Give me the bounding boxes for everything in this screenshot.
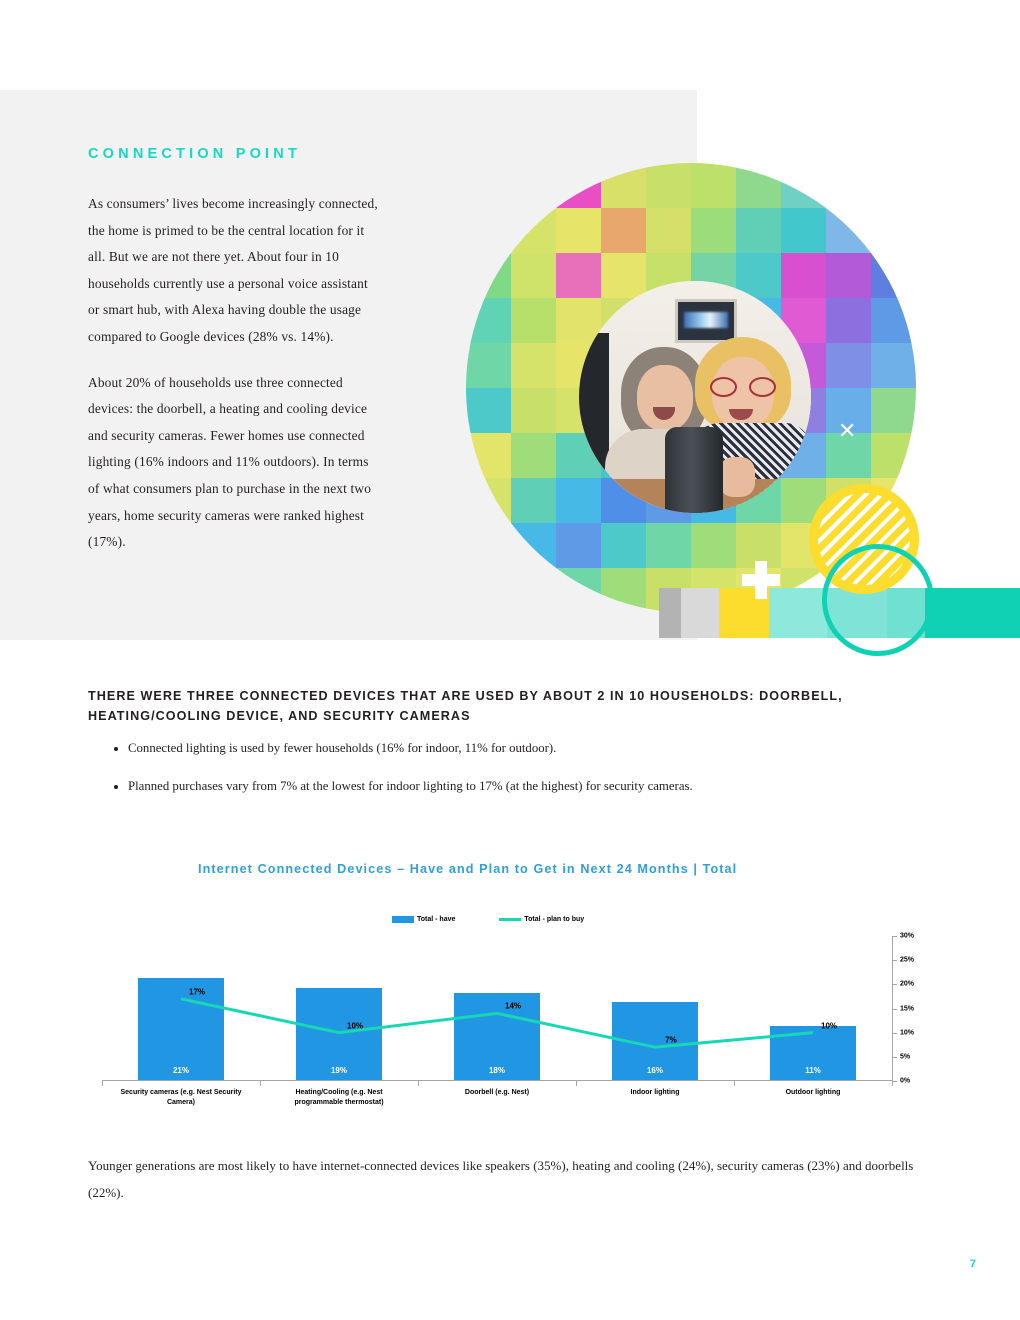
chart-y-tick-label: 0%	[900, 1078, 910, 1085]
mosaic-tile	[511, 568, 556, 613]
plus-icon	[742, 561, 780, 599]
mosaic-tile	[556, 568, 601, 613]
color-block	[659, 588, 681, 638]
chart-x-category-labels: Security cameras (e.g. Nest Security Cam…	[102, 1088, 892, 1122]
section-heading: THERE WERE THREE CONNECTED DEVICES THAT …	[88, 686, 888, 726]
chart-y-tick	[893, 1009, 897, 1010]
legend-label-have: Total - have	[417, 916, 455, 923]
chart-line-value-label: 7%	[665, 1036, 677, 1045]
chart-x-category-label: Security cameras (e.g. Nest Security Cam…	[116, 1088, 246, 1107]
mosaic-tile	[511, 433, 556, 478]
chart-container: Internet Connected Devices – Have and Pl…	[88, 858, 938, 1128]
mosaic-tile	[871, 298, 916, 343]
mosaic-tile	[781, 163, 826, 208]
mosaic-tile	[556, 523, 601, 568]
mosaic-tile	[691, 523, 736, 568]
chart-plot-area: 21%19%18%16%11%17%10%14%7%10%	[102, 936, 892, 1081]
mosaic-tile	[511, 343, 556, 388]
chart-x-category-label: Outdoor lighting	[748, 1088, 878, 1098]
list-item: Planned purchases vary from 7% at the lo…	[128, 776, 730, 797]
chart-x-tick	[576, 1081, 577, 1086]
legend-item-have: Total - have	[392, 916, 455, 923]
chart-x-tick	[102, 1081, 103, 1086]
hero-paragraph-2: About 20% of households use three connec…	[88, 370, 380, 556]
mosaic-tile	[601, 163, 646, 208]
mosaic-tile	[871, 163, 916, 208]
section-bullets: Connected lighting is used by fewer hous…	[110, 738, 730, 814]
mosaic-tile	[466, 433, 511, 478]
chart-x-tick	[260, 1081, 261, 1086]
chart-x-tick	[734, 1081, 735, 1086]
photo-inset	[579, 281, 811, 513]
mosaic-tile	[601, 523, 646, 568]
mosaic-tile	[601, 568, 646, 613]
photo-person1-face	[637, 365, 693, 431]
mosaic-tile	[511, 388, 556, 433]
mosaic-tile	[736, 163, 781, 208]
chart-title: Internet Connected Devices – Have and Pl…	[198, 862, 938, 876]
mosaic-tile	[556, 163, 601, 208]
chart-line-series	[102, 936, 892, 1081]
chart-x-category-label: Heating/Cooling (e.g. Nest programmable …	[274, 1088, 404, 1107]
chart-line-value-label: 10%	[347, 1021, 363, 1030]
mosaic-tile	[466, 298, 511, 343]
chart-line-value-label: 10%	[821, 1021, 837, 1030]
color-block	[681, 588, 719, 638]
legend-swatch-line-icon	[499, 918, 521, 921]
chart-y-axis: 0%5%10%15%20%25%30%	[892, 936, 938, 1081]
teal-bar-block	[925, 588, 1020, 638]
chart-line-value-label: 17%	[189, 987, 205, 996]
mosaic-tile	[646, 163, 691, 208]
mosaic-tile	[601, 208, 646, 253]
footer-paragraph: Younger generations are most likely to h…	[88, 1152, 928, 1206]
mosaic-tile	[556, 208, 601, 253]
list-item: Connected lighting is used by fewer hous…	[128, 738, 730, 759]
mosaic-tile	[511, 208, 556, 253]
mosaic-tile	[871, 388, 916, 433]
mosaic-tile	[511, 523, 556, 568]
photo-person2-glasses	[710, 377, 776, 397]
chart-y-tick	[893, 960, 897, 961]
mosaic-tile	[871, 343, 916, 388]
legend-label-plan: Total - plan to buy	[524, 916, 584, 923]
hero-paragraph-1: As consumers’ lives become increasingly …	[88, 191, 380, 351]
chart-y-tick	[893, 1033, 897, 1034]
legend-swatch-bar-icon	[392, 916, 414, 923]
chart-y-tick	[893, 1081, 897, 1082]
mosaic-tile	[511, 478, 556, 523]
chart-y-tick	[893, 936, 897, 937]
chart-line-path	[181, 999, 813, 1047]
mosaic-tile	[466, 568, 511, 613]
mosaic-tile	[646, 523, 691, 568]
chart-legend: Total - have Total - plan to buy	[392, 916, 584, 923]
mosaic-tile	[871, 208, 916, 253]
mosaic-tile	[871, 433, 916, 478]
mosaic-tile	[736, 208, 781, 253]
teal-ring-outline	[822, 544, 934, 656]
legend-item-plan: Total - plan to buy	[499, 916, 584, 923]
chart-y-tick-label: 20%	[900, 981, 914, 988]
chart-y-tick-label: 10%	[900, 1029, 914, 1036]
mosaic-tile	[826, 163, 871, 208]
mosaic-tile	[466, 253, 511, 298]
photo-person2-hand	[719, 457, 755, 497]
hero-decorative-graphic: ✕	[466, 163, 936, 633]
chart-y-tick-label: 5%	[900, 1053, 910, 1060]
mosaic-tile	[511, 298, 556, 343]
mosaic-tile	[691, 208, 736, 253]
mosaic-tile	[691, 163, 736, 208]
hero-kicker: CONNECTION POINT	[88, 146, 301, 162]
mosaic-tile	[646, 208, 691, 253]
chart-x-category-label: Indoor lighting	[590, 1088, 720, 1098]
mosaic-tile	[466, 523, 511, 568]
page-number: 7	[970, 1258, 976, 1270]
mosaic-tile	[511, 253, 556, 298]
mosaic-tile	[781, 208, 826, 253]
mosaic-tile	[466, 208, 511, 253]
mosaic-tile	[511, 163, 556, 208]
mosaic-tile	[466, 163, 511, 208]
mosaic-tile	[466, 388, 511, 433]
mosaic-tile	[826, 298, 871, 343]
mosaic-tile	[871, 253, 916, 298]
mosaic-tile	[826, 253, 871, 298]
chart-y-tick-label: 30%	[900, 933, 914, 940]
chart-y-tick	[893, 1057, 897, 1058]
chart-x-tick	[418, 1081, 419, 1086]
chart-y-tick-label: 25%	[900, 957, 914, 964]
close-x-icon: ✕	[838, 420, 860, 442]
mosaic-tile	[826, 208, 871, 253]
mosaic-tile	[466, 478, 511, 523]
chart-line-value-label: 14%	[505, 1002, 521, 1011]
mosaic-tile	[466, 343, 511, 388]
mosaic-tile	[826, 343, 871, 388]
chart-y-tick	[893, 984, 897, 985]
photo-smart-speaker	[665, 427, 723, 513]
hero-body-text: As consumers’ lives become increasingly …	[88, 191, 380, 575]
photo-picture-frame	[675, 299, 737, 343]
chart-y-tick-label: 15%	[900, 1005, 914, 1012]
chart-x-category-label: Doorbell (e.g. Nest)	[432, 1088, 562, 1098]
